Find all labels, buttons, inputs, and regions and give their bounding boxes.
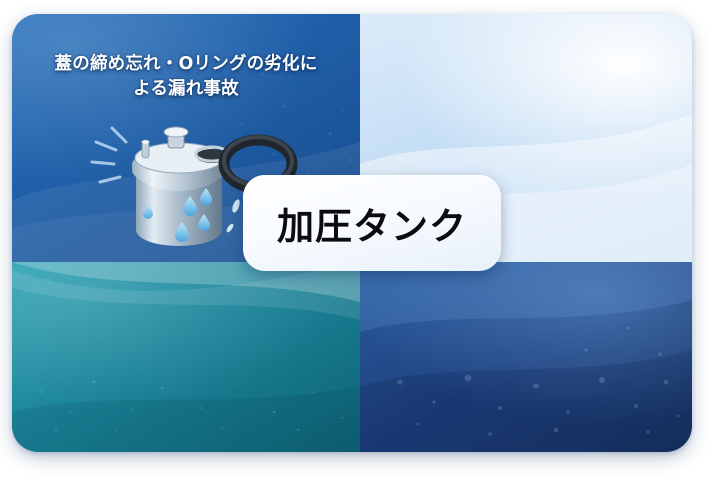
background-swoosh: [12, 262, 360, 452]
info-card: 蓋の締め忘れ・Oリングの劣化に よる漏れ事故: [12, 14, 692, 452]
caption-top-left: 蓋の締め忘れ・Oリングの劣化に よる漏れ事故: [26, 52, 346, 102]
speckle-texture: [12, 262, 360, 452]
quadrant-bottom-left: 異なる液体材料を頻繁に入れ替える 場合、洗浄性・材質適合性に注意: [12, 262, 360, 452]
caption-line: よる漏れ事故: [26, 77, 346, 102]
valve-icon: [142, 127, 189, 158]
caption-line: 蓋の締め忘れ・Oリングの劣化に: [26, 52, 346, 77]
water-droplet-icon: [143, 188, 212, 242]
center-badge-label: 加圧タンク: [277, 196, 467, 250]
speckle-texture: [360, 262, 692, 452]
poster-canvas: 蓋の締め忘れ・Oリングの劣化に よる漏れ事故: [0, 0, 720, 480]
sparkle-icon: [92, 128, 126, 182]
quadrant-bottom-right: 長時間使用時の圧力変動による 吐出不安定性: [360, 262, 692, 452]
center-badge: 加圧タンク: [243, 175, 501, 271]
background-swoosh: [360, 262, 692, 452]
